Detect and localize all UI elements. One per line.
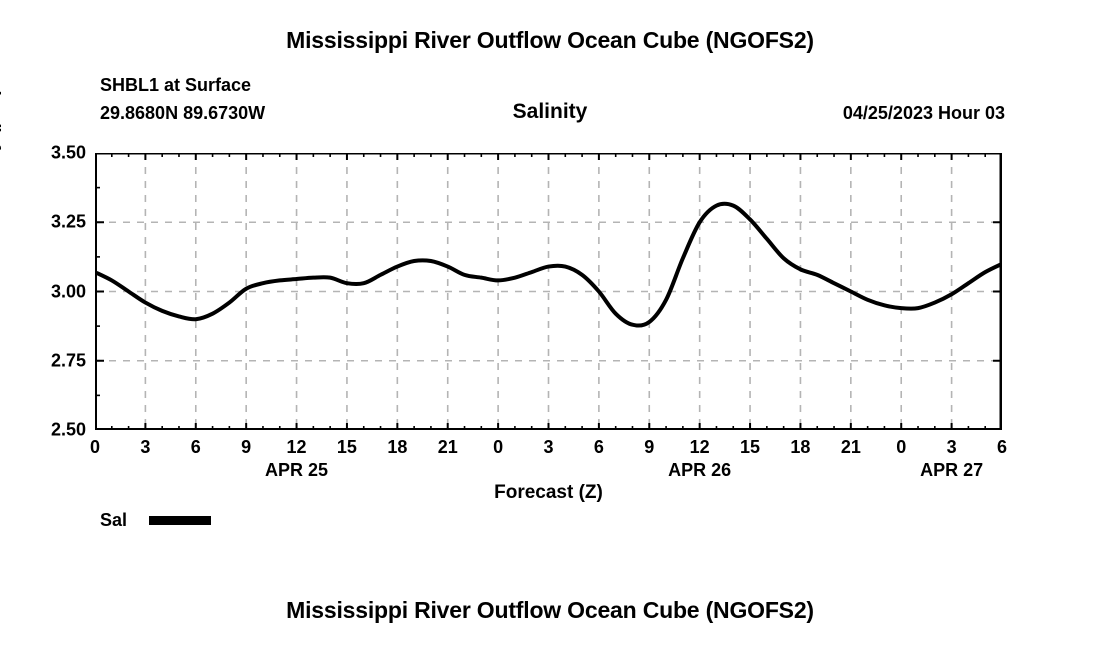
day-label: APR 27 [920, 460, 983, 481]
x-tick-label: 9 [241, 437, 251, 458]
x-tick-label: 18 [790, 437, 810, 458]
x-tick-label: 12 [690, 437, 710, 458]
station-name: SHBL1 at Surface [100, 75, 251, 96]
page-title-bottom: Mississippi River Outflow Ocean Cube (NG… [0, 597, 1100, 624]
y-tick-label: 2.50 [51, 420, 86, 441]
x-tick-label: 9 [644, 437, 654, 458]
y-axis-tick-labels: 2.502.753.003.253.50 [0, 153, 86, 430]
x-tick-label: 18 [387, 437, 407, 458]
forecast-datestamp: 04/25/2023 Hour 03 [843, 103, 1005, 124]
x-tick-label: 6 [191, 437, 201, 458]
y-tick-label: 2.75 [51, 350, 86, 371]
y-tick-label: 3.25 [51, 212, 86, 233]
x-axis-day-labels: APR 25APR 26APR 27 [95, 460, 1002, 484]
x-tick-label: 21 [841, 437, 861, 458]
grid-lines [95, 153, 1002, 430]
legend-swatch-sal [149, 516, 211, 525]
chart-legend: Sal [100, 509, 211, 531]
page-title-top: Mississippi River Outflow Ocean Cube (NG… [0, 27, 1100, 54]
x-tick-label: 3 [947, 437, 957, 458]
y-tick-label: 3.50 [51, 143, 86, 164]
x-axis-label: Forecast (Z) [95, 482, 1002, 504]
x-tick-label: 15 [740, 437, 760, 458]
x-tick-label: 3 [140, 437, 150, 458]
x-axis-tick-labels: 036912151821036912151821036 [95, 437, 1002, 461]
x-tick-label: 0 [90, 437, 100, 458]
x-tick-label: 15 [337, 437, 357, 458]
x-tick-label: 6 [997, 437, 1007, 458]
chart-plot-area [95, 153, 1002, 430]
x-tick-label: 12 [287, 437, 307, 458]
x-tick-label: 21 [438, 437, 458, 458]
legend-label-sal: Sal [100, 510, 127, 531]
x-tick-label: 0 [493, 437, 503, 458]
x-tick-label: 3 [543, 437, 553, 458]
day-label: APR 25 [265, 460, 328, 481]
salinity-line-chart [95, 153, 1002, 430]
y-tick-label: 3.00 [51, 281, 86, 302]
x-tick-label: 6 [594, 437, 604, 458]
x-tick-label: 0 [896, 437, 906, 458]
day-label: APR 26 [668, 460, 731, 481]
